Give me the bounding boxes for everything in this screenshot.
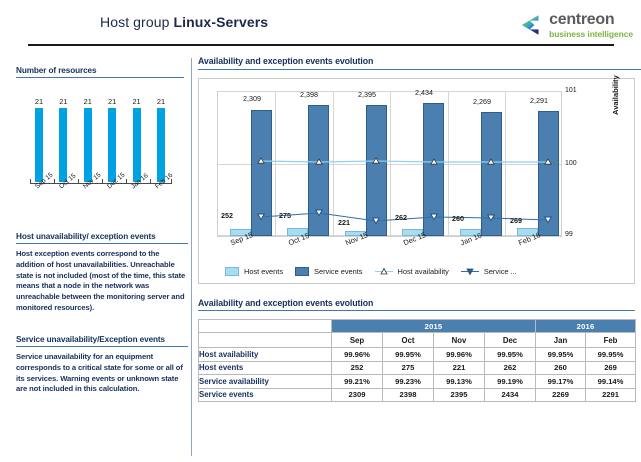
- resources-chart: 21 21 21 21: [16, 87, 184, 202]
- table-corner-cell: [199, 333, 332, 348]
- resources-bar-group: 21: [54, 97, 72, 182]
- bar-service-events: [366, 105, 387, 236]
- table-section-title: Availability and exception events evolut…: [198, 298, 635, 312]
- table-col-feb: Feb: [586, 333, 636, 348]
- chart-legend: Host events Service events Host availabi…: [225, 265, 625, 279]
- row-label: Service events: [199, 388, 332, 402]
- page-header: Host group Linux-Servers: [0, 0, 641, 48]
- row-value: 2291: [586, 388, 636, 402]
- bar-service-events: [251, 110, 272, 236]
- availability-table: 2015 2016 Sep Oct Nov Dec Jan Feb: [198, 319, 636, 402]
- row-value: 99.95%: [485, 348, 536, 362]
- row-label: Host events: [199, 361, 332, 375]
- row-value: 99.96%: [434, 348, 485, 362]
- logo-wordmark: centreon business intelligence: [549, 12, 633, 39]
- resources-bar: [59, 108, 67, 182]
- row-value: 221: [434, 361, 485, 375]
- resources-bar-group: 21: [30, 97, 48, 182]
- table-year-row: 2015 2016: [199, 320, 636, 333]
- row-value: 99.96%: [332, 348, 383, 362]
- availability-chart-panel: 2,309 2,398 2,395 2,434 2,269 2,291 252 …: [198, 78, 635, 284]
- host-unavailability-body: Host exception events correspond to the …: [16, 249, 188, 314]
- table-col-jan: Jan: [536, 333, 586, 348]
- resources-bar-group: 21: [128, 97, 146, 182]
- legend-label: Host events: [244, 267, 283, 276]
- row-value: 99.14%: [586, 375, 636, 389]
- legend-swatch-host-events: [225, 267, 239, 276]
- category-separator: [448, 91, 449, 236]
- resources-axis-line: [30, 183, 172, 184]
- category-separator: [390, 91, 391, 236]
- category-separator: [275, 91, 276, 236]
- resources-bar: [133, 108, 141, 182]
- resources-section-title: Number of resources: [16, 66, 184, 78]
- resources-bar-value: 21: [35, 97, 43, 106]
- resources-bar-group: 21: [79, 97, 97, 182]
- row-value: 99.95%: [586, 348, 636, 362]
- row-value: 99.95%: [536, 348, 586, 362]
- logo-tagline: business intelligence: [549, 30, 633, 39]
- main-content: Availability and exception events evolut…: [198, 56, 641, 402]
- resources-section: Number of resources 21 21 21: [16, 66, 184, 202]
- resources-bar: [108, 108, 116, 182]
- bar-service-events: [423, 103, 444, 236]
- legend-label: Service ...: [484, 267, 517, 276]
- resources-bar-group: 21: [152, 97, 170, 182]
- row-value: 275: [383, 361, 434, 375]
- legend-item-service-availability[interactable]: Service ...: [461, 267, 517, 276]
- table-year-2016: 2016: [536, 320, 636, 333]
- legend-marker-triangle-up-icon: [375, 267, 393, 276]
- table-year-2015: 2015: [332, 320, 536, 333]
- row-value: 2434: [485, 388, 536, 402]
- table-section: Availability and exception events evolut…: [198, 298, 635, 403]
- resources-bar: [84, 108, 92, 182]
- resources-bar: [157, 108, 165, 182]
- host-unavailability-title: Host unavailability/ exception events: [16, 232, 188, 244]
- resources-bar: [35, 108, 43, 182]
- legend-label: Service events: [314, 267, 362, 276]
- bar-label-service-events: 2,398: [288, 90, 330, 99]
- chart-x-labels: Sep 15 Oct 15 Nov 15 Dec 15 Jan 16 Feb 1…: [217, 239, 562, 263]
- legend-item-host-events[interactable]: Host events: [225, 267, 283, 276]
- bar-label-host-events: 260: [452, 214, 464, 223]
- host-unavailability-note: Host unavailability/ exception events Ho…: [16, 232, 188, 314]
- resources-bar-value: 21: [108, 97, 116, 106]
- table-col-sep: Sep: [332, 333, 383, 348]
- legend-marker-triangle-down-icon: [461, 267, 479, 276]
- report-page: Host group Linux-Servers: [0, 0, 641, 462]
- logo-name: centreon: [549, 12, 633, 28]
- bar-label-host-events: 252: [221, 211, 233, 220]
- bar-service-events: [481, 112, 502, 236]
- table-col-oct: Oct: [383, 333, 434, 348]
- hostgroup-label: Host group: [100, 14, 169, 30]
- table-body: Host availability 99.96% 99.95% 99.96% 9…: [199, 348, 636, 402]
- category-separator: [333, 91, 334, 236]
- row-value: 2309: [332, 388, 383, 402]
- row-value: 99.95%: [383, 348, 434, 362]
- bar-label-service-events: 2,269: [461, 97, 503, 106]
- bar-label-service-events: 2,291: [518, 96, 560, 105]
- legend-item-service-events[interactable]: Service events: [295, 267, 362, 276]
- row-value: 99.23%: [383, 375, 434, 389]
- row-value: 260: [536, 361, 586, 375]
- chart-right-axis: 101 100 99 Availability: [565, 79, 635, 249]
- bar-label-host-events: 221: [338, 218, 350, 227]
- legend-label: Host availability: [398, 267, 449, 276]
- service-unavailability-title: Service unavailability/Exception events: [16, 335, 188, 347]
- row-value: 99.13%: [434, 375, 485, 389]
- right-axis-title: Availability: [611, 75, 620, 115]
- legend-item-host-availability[interactable]: Host availability: [375, 267, 449, 276]
- bar-label-host-events: 262: [395, 213, 407, 222]
- row-value: 2395: [434, 388, 485, 402]
- bar-label-host-events: 275: [279, 211, 291, 220]
- right-axis-tick: 99: [565, 231, 573, 238]
- table-row: Host events 252 275 221 262 260 269: [199, 361, 636, 375]
- header-divider: [28, 44, 614, 46]
- bar-service-events: [308, 105, 329, 236]
- resources-bar-value: 21: [132, 97, 140, 106]
- row-value: 252: [332, 361, 383, 375]
- resources-bar-group: 21: [103, 97, 121, 182]
- resources-bar-value: 21: [157, 97, 165, 106]
- resources-x-labels: Sep 15 Oct 15 Nov 15 Dec 15 Jan 16 Feb 1…: [16, 185, 184, 207]
- resources-bar-value: 21: [59, 97, 67, 106]
- bar-label-service-events: 2,309: [231, 94, 273, 103]
- bar-label-service-events: 2,395: [346, 90, 388, 99]
- table-row: Service availability 99.21% 99.23% 99.13…: [199, 375, 636, 389]
- row-label: Service availability: [199, 375, 332, 389]
- service-unavailability-body: Service unavailability for an equipment …: [16, 352, 188, 395]
- service-unavailability-note: Service unavailability/Exception events …: [16, 335, 188, 395]
- bar-service-events: [538, 111, 559, 236]
- row-value: 99.17%: [536, 375, 586, 389]
- table-corner-cell: [199, 320, 332, 333]
- bar-label-service-events: 2,434: [403, 88, 445, 97]
- table-month-row: Sep Oct Nov Dec Jan Feb: [199, 333, 636, 348]
- row-value: 99.21%: [332, 375, 383, 389]
- row-value: 2398: [383, 388, 434, 402]
- table-col-nov: Nov: [434, 333, 485, 348]
- bar-label-host-events: 269: [510, 216, 522, 225]
- centreon-c-logo-icon: [518, 12, 544, 38]
- right-axis-tick: 101: [565, 87, 577, 94]
- resources-bars: 21 21 21 21: [30, 97, 170, 182]
- table-col-dec: Dec: [485, 333, 536, 348]
- row-label: Host availability: [199, 348, 332, 362]
- table-head: 2015 2016 Sep Oct Nov Dec Jan Feb: [199, 320, 636, 348]
- sidebar: Number of resources 21 21 21: [0, 56, 192, 456]
- right-axis-tick: 100: [565, 160, 577, 167]
- row-value: 99.19%: [485, 375, 536, 389]
- chart-section-title: Availability and exception events evolut…: [198, 56, 641, 70]
- row-value: 269: [586, 361, 636, 375]
- table-row: Host availability 99.96% 99.95% 99.96% 9…: [199, 348, 636, 362]
- category-separator: [505, 91, 506, 236]
- centreon-logo: centreon business intelligence: [518, 10, 633, 40]
- hostgroup-name: Linux-Servers: [173, 14, 268, 30]
- table-row: Service events 2309 2398 2395 2434 2269 …: [199, 388, 636, 402]
- page-title: Host group Linux-Servers: [100, 14, 268, 30]
- resources-bar-value: 21: [84, 97, 92, 106]
- legend-swatch-service-events: [295, 267, 309, 276]
- row-value: 262: [485, 361, 536, 375]
- row-value: 2269: [536, 388, 586, 402]
